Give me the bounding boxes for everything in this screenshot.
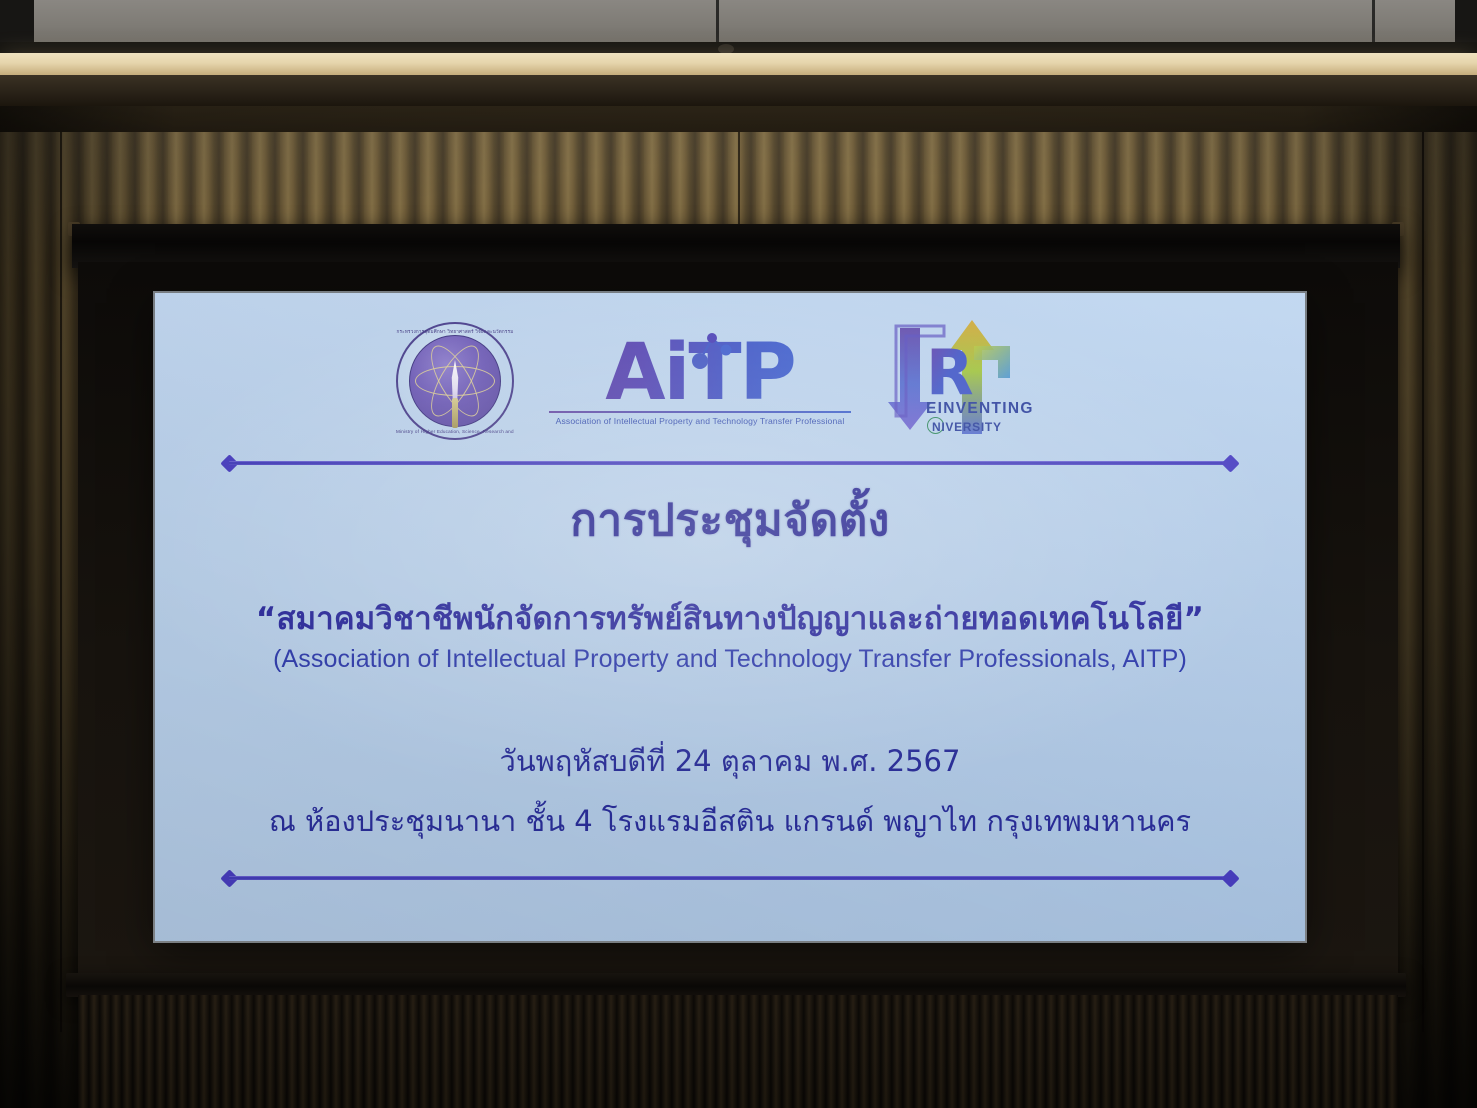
curtain-seam	[1422, 132, 1424, 1032]
torch-stem-icon	[452, 398, 458, 428]
divider-bottom	[215, 871, 1245, 885]
curtain-top-rail	[0, 106, 1477, 132]
projector-screen-weight-bar	[66, 973, 1406, 997]
ceiling-tile-seam	[1372, 0, 1375, 46]
molecule-icon	[686, 330, 734, 372]
curtain-seam	[60, 132, 62, 1032]
ceiling-frame-right	[1455, 0, 1477, 48]
conference-room-scene: กระทรวงการอุดมศึกษา วิทยาศาสตร์ วิจัยและ…	[0, 0, 1477, 1108]
divider-rule	[229, 876, 1231, 880]
divider-diamond-right	[1221, 869, 1239, 887]
ceiling-tile-seam	[716, 0, 719, 46]
svg-text:R: R	[926, 336, 974, 409]
aitp-tagline: Association of Intellectual Property and…	[540, 416, 860, 426]
aitp-wordmark: AiTP Association of Intellectual Propert…	[540, 336, 860, 425]
meeting-venue: ณ ห้องประชุมนานา ชั้น 4 โรงแรมอีสติน แกร…	[155, 798, 1305, 844]
projection-screen-slide: กระทรวงการอุดมศึกษา วิทยาศาสตร์ วิจัยและ…	[155, 293, 1305, 941]
divider-rule	[229, 461, 1231, 465]
meeting-date: วันพฤหัสบดีที่ 24 ตุลาคม พ.ศ. 2567	[155, 738, 1305, 784]
mhesi-seal-icon: กระทรวงการอุดมศึกษา วิทยาศาสตร์ วิจัยและ…	[396, 322, 514, 440]
divider-top	[215, 456, 1245, 470]
ceiling-frame-left	[0, 0, 34, 48]
cove-light-strip	[0, 53, 1477, 75]
slide-logo-bar: กระทรวงการอุดมศึกษา วิทยาศาสตร์ วิจัยและ…	[155, 311, 1305, 451]
lower-curtain-skirt	[78, 995, 1398, 1108]
reinventing-university-logo: R EINVENTING NIVERSITY	[886, 316, 1064, 446]
association-name-english: (Association of Intellectual Property an…	[155, 645, 1305, 674]
university-label: NIVERSITY	[932, 420, 1002, 434]
seal-text-bottom: Ministry of Higher Education, Science, R…	[396, 429, 514, 434]
seal-disc	[409, 335, 501, 427]
ceiling-panels	[0, 0, 1477, 48]
reinventing-label: EINVENTING	[926, 400, 1034, 418]
divider-diamond-right	[1221, 454, 1239, 472]
slide-title: การประชุมจัดตั้ง	[155, 485, 1305, 555]
association-name-thai: “สมาคมวิชาชีพนักจัดการทรัพย์สินทางปัญญาแ…	[155, 593, 1305, 643]
